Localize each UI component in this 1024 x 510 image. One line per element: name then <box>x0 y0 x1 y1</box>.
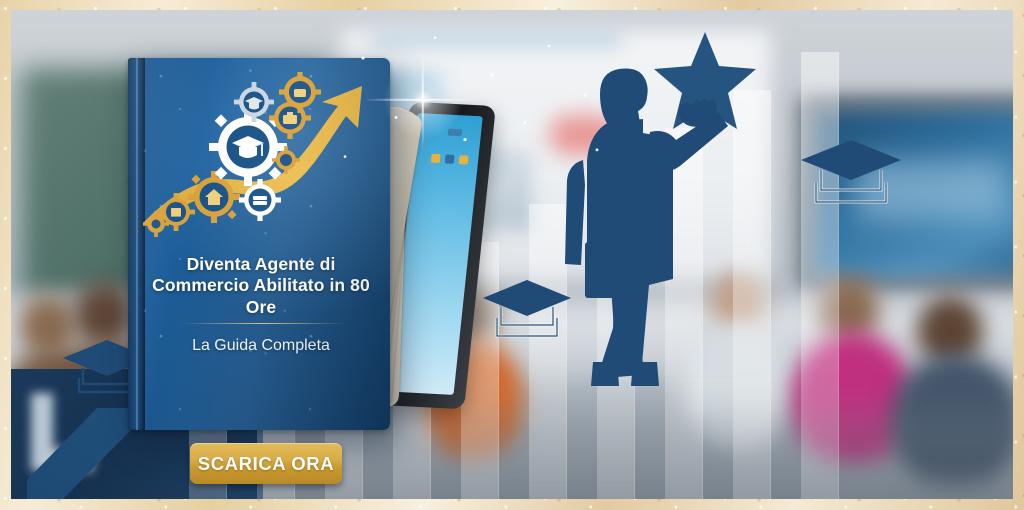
download-cta-button[interactable]: SCARICA ORA <box>190 443 342 484</box>
title-divider <box>180 323 346 324</box>
cap-gear-small-icon <box>234 82 274 122</box>
ebook-cover: Diventa Agente di Commercio Abilitato in… <box>128 58 390 430</box>
promo-banner: Diventa Agente di Commercio Abilitato in… <box>0 0 1024 510</box>
ebook-title: Diventa Agente di Commercio Abilitato in… <box>142 254 380 318</box>
cover-artwork <box>138 72 388 237</box>
ebook-subtitle: La Guida Completa <box>142 336 380 355</box>
house-gear-icon <box>188 171 240 223</box>
banner-stage: Diventa Agente di Commercio Abilitato in… <box>11 10 1013 499</box>
